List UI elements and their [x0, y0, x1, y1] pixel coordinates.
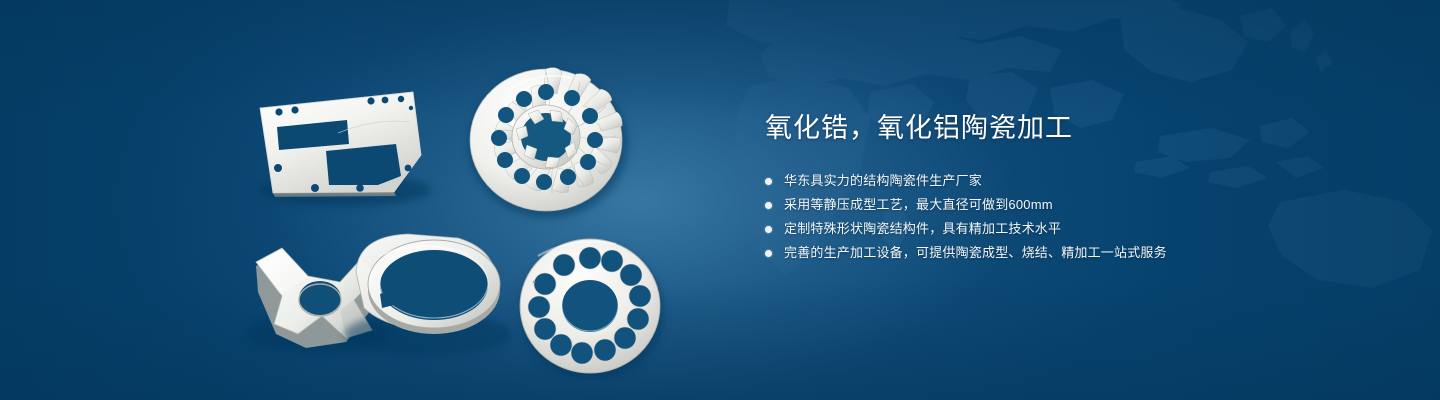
ceramic-products-group [230, 40, 700, 380]
ceramic-base-plate-part [259, 92, 431, 206]
ceramic-impeller-disc-part [468, 68, 628, 218]
ceramic-ring-part [344, 234, 512, 356]
bullet-dot-icon [765, 250, 772, 257]
list-item: 采用等静压成型工艺，最大直径可做到600mm [765, 193, 1325, 217]
bullet-dot-icon [765, 226, 772, 233]
feature-text: 华东具实力的结构陶瓷件生产厂家 [784, 169, 982, 193]
feature-text: 采用等静压成型工艺，最大直径可做到600mm [784, 193, 1053, 217]
promo-banner: 氧化锆，氧化铝陶瓷加工 华东具实力的结构陶瓷件生产厂家 采用等静压成型工艺，最大… [0, 0, 1440, 400]
feature-text: 定制特殊形状陶瓷结构件，具有精加工技术水平 [784, 217, 1061, 241]
banner-copy: 氧化锆，氧化铝陶瓷加工 华东具实力的结构陶瓷件生产厂家 采用等静压成型工艺，最大… [765, 108, 1325, 265]
list-item: 定制特殊形状陶瓷结构件，具有精加工技术水平 [765, 217, 1325, 241]
feature-text: 完善的生产加工设备，可提供陶瓷成型、烧结、精加工一站式服务 [784, 241, 1167, 265]
feature-list: 华东具实力的结构陶瓷件生产厂家 采用等静压成型工艺，最大直径可做到600mm 定… [765, 169, 1325, 265]
ceramic-perforated-disc-part [520, 239, 664, 380]
list-item: 完善的生产加工设备，可提供陶瓷成型、烧结、精加工一站式服务 [765, 241, 1325, 265]
list-item: 华东具实力的结构陶瓷件生产厂家 [765, 169, 1325, 193]
bullet-dot-icon [765, 202, 772, 209]
bullet-dot-icon [765, 178, 772, 185]
page-title: 氧化锆，氧化铝陶瓷加工 [765, 108, 1325, 148]
